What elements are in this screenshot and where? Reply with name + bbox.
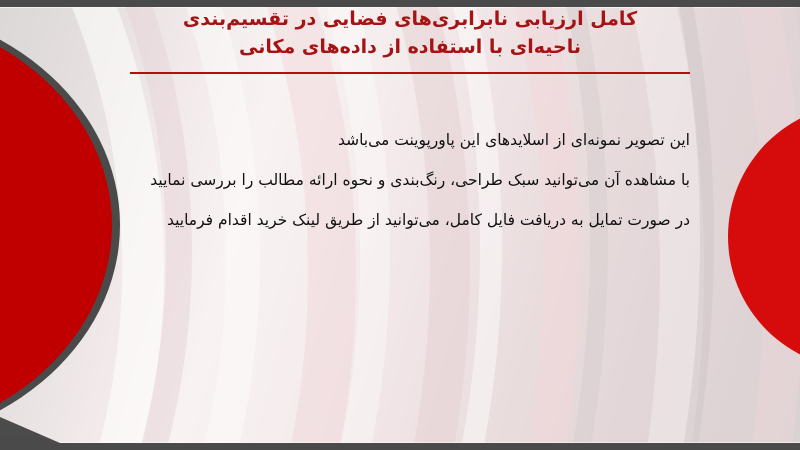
slide-title: کامل ارزیابی نابرابری‌های فضایی در تقسیم… [120, 5, 700, 61]
slide-title-line-1: کامل ارزیابی نابرابری‌های فضایی در تقسیم… [120, 5, 700, 33]
slide-title-line-2: ناحیه‌ای با استفاده از داده‌های مکانی [120, 33, 700, 61]
body-line-1: این تصویر نمونه‌ای از اسلایدهای این پاور… [70, 120, 690, 160]
body-line-3: در صورت تمایل به دریافت فایل کامل، می‌تو… [70, 200, 690, 240]
panel-bottom-highlight [60, 442, 800, 443]
slide-body-text: این تصویر نمونه‌ای از اسلایدهای این پاور… [70, 120, 690, 240]
body-line-2: با مشاهده آن می‌توانید سبک طراحی، رنگ‌بن… [70, 160, 690, 200]
presentation-slide: کامل ارزیابی نابرابری‌های فضایی در تقسیم… [0, 0, 800, 450]
title-underline-rule [130, 72, 690, 74]
